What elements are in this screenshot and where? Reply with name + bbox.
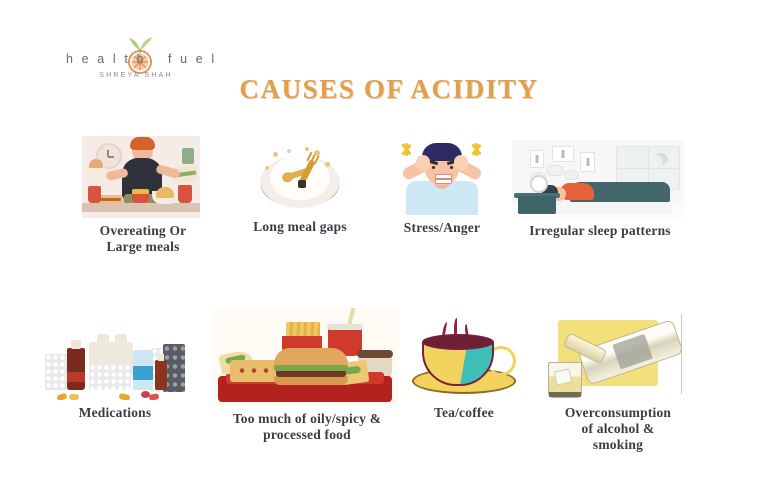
cause-card-long-meal-gaps: Long meal gaps — [240, 142, 360, 235]
cause-label-irregular-sleep: Irregular sleep patterns — [512, 223, 688, 239]
plate-clock-cutlery-illustration — [257, 142, 343, 214]
person-sleeping-in-bed-illustration — [512, 140, 684, 218]
cause-label-medications: Medications — [45, 405, 185, 421]
slide-canvas: h e a l t hf u e l SHREYA SHAH CAUSES OF… — [0, 0, 778, 480]
bottle-pouring-glass-illustration — [544, 312, 684, 400]
cause-card-tea-coffee: Tea/coffee — [408, 318, 520, 421]
page-title: CAUSES OF ACIDITY — [216, 74, 562, 105]
brand-logo: h e a l t hf u e l SHREYA SHAH — [66, 34, 206, 84]
cause-card-medications: Medications — [45, 334, 185, 421]
logo-word-right: f u e l — [168, 52, 217, 66]
cause-card-irregular-sleep: Irregular sleep patterns — [512, 140, 688, 239]
fast-food-tray-illustration — [212, 308, 398, 406]
cause-card-overeating: Overeating Or Large meals — [82, 136, 204, 255]
cause-label-tea-coffee: Tea/coffee — [408, 405, 520, 421]
cause-label-long-meal-gaps: Long meal gaps — [240, 219, 360, 235]
cause-label-processed-food: Too much of oily/spicy & processed food — [212, 411, 402, 443]
medicine-bottles-pills-illustration — [45, 334, 185, 400]
hot-beverage-cup-illustration — [408, 318, 518, 400]
cause-label-stress-anger: Stress/Anger — [390, 220, 494, 236]
logo-subtitle: SHREYA SHAH — [66, 72, 206, 79]
cause-card-processed-food: Too much of oily/spicy & processed food — [212, 308, 402, 443]
cause-label-overeating: Overeating Or Large meals — [82, 223, 204, 255]
logo-word-left: h e a l t h — [66, 52, 146, 66]
cause-card-alcohol-smoking: Overconsumption of alcohol & smoking — [544, 312, 692, 453]
cause-label-alcohol-smoking: Overconsumption of alcohol & smoking — [544, 405, 692, 453]
logo-wordmark: h e a l t hf u e l — [66, 52, 206, 66]
person-overeating-illustration — [82, 136, 200, 218]
cause-card-stress-anger: Stress/Anger — [390, 135, 494, 236]
stressed-person-illustration — [390, 135, 494, 215]
